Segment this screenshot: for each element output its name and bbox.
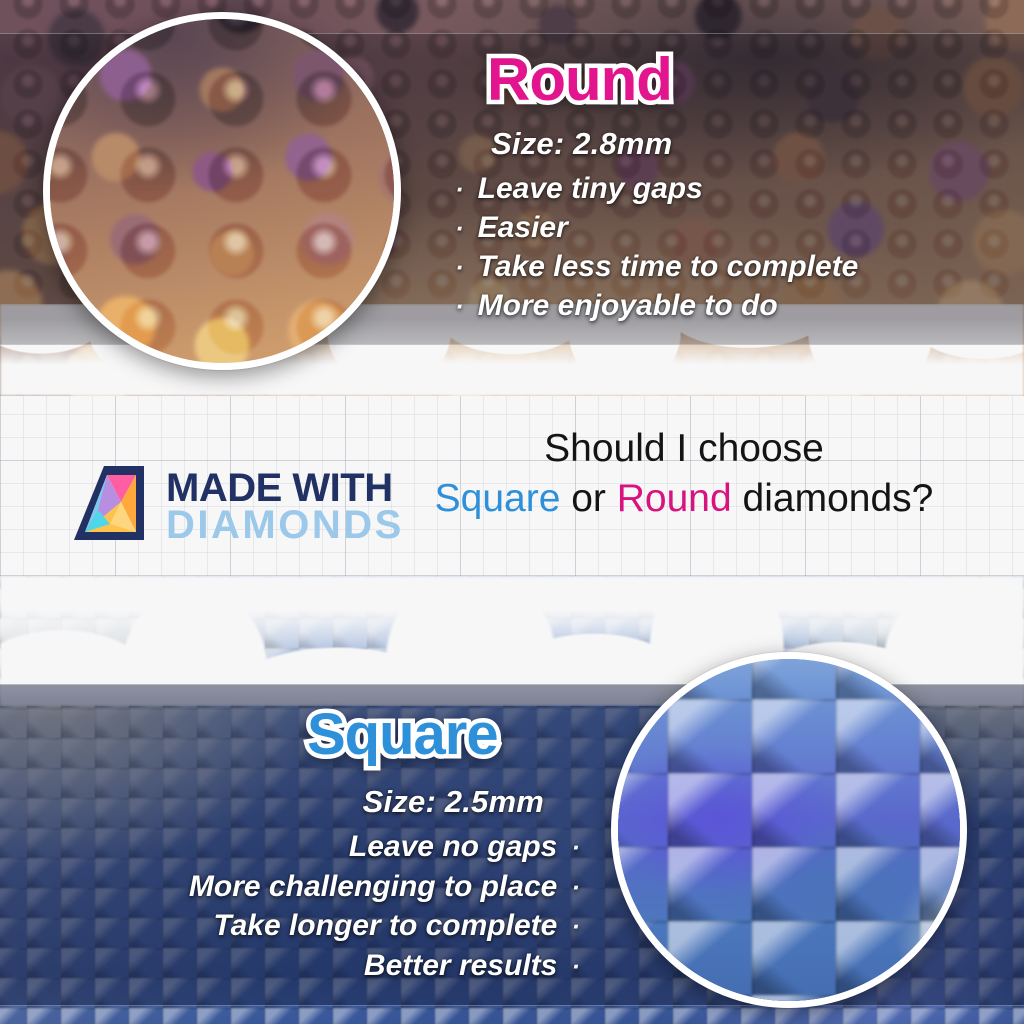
list-item: Leave no gaps · [120,827,580,867]
round-bullet-label: Easier [478,208,568,247]
square-size-line: Size: 2.5mm [120,784,580,820]
bullet-dot-icon: · [455,176,464,202]
round-title: Round [487,50,672,110]
brand-logo: MADE WITH DIAMONDS [66,462,404,551]
bullet-dot-icon: · [455,293,464,319]
bullet-dot-icon: · [455,215,464,241]
list-item: · Easier [455,208,925,247]
logo-line-2: DIAMONDS [166,507,404,544]
list-item: · Take less time to complete [455,247,925,286]
bullet-dot-icon: · [571,913,580,939]
question-tail: diamonds? [732,477,934,520]
square-drill-magnifier-icon [611,652,967,1008]
question-line-2: Square or Round diamonds? [404,474,964,524]
square-title: Square [307,706,498,764]
list-item: Better results · [120,946,580,986]
logo-wordmark: MADE WITH DIAMONDS [166,470,404,544]
round-bullet-label: Take less time to complete [478,247,859,286]
logo-line-1: MADE WITH [166,470,404,507]
round-lens-gloss [43,12,401,370]
round-bullet-label: Leave tiny gaps [478,169,703,208]
square-bullet-label: Leave no gaps [349,827,557,867]
square-lens-gloss [611,652,967,1008]
square-bullet-label: More challenging to place [189,867,557,907]
square-bullet-label: Take longer to complete [213,906,557,946]
bullet-dot-icon: · [571,834,580,860]
bullet-dot-icon: · [571,874,580,900]
list-item: More challenging to place · [120,867,580,907]
page-title: Should I choose Square or Round diamonds… [404,424,964,524]
bullet-dot-icon: · [571,953,580,979]
round-info-block: Size: 2.8mm · Leave tiny gaps · Easier ·… [455,126,925,325]
question-connector: or [560,477,616,520]
bullet-dot-icon: · [455,254,464,280]
infographic-canvas: Round Size: 2.8mm · Leave tiny gaps · Ea… [0,0,1024,1024]
list-item: · Leave tiny gaps [455,169,925,208]
square-bullet-label: Better results [364,946,557,986]
round-bullet-label: More enjoyable to do [478,286,778,325]
round-size-line: Size: 2.8mm [455,126,925,162]
question-round-word: Round [617,477,732,520]
square-info-block: Size: 2.5mm Leave no gaps · More challen… [120,784,580,985]
round-drill-magnifier-icon [43,12,401,370]
square-bullet-list: Leave no gaps · More challenging to plac… [120,827,580,985]
list-item: Take longer to complete · [120,906,580,946]
list-item: · More enjoyable to do [455,286,925,325]
diamond-logo-icon [66,462,152,551]
question-square-word: Square [435,477,561,520]
question-line-1: Should I choose [404,424,964,474]
round-bullet-list: · Leave tiny gaps · Easier · Take less t… [455,169,925,325]
